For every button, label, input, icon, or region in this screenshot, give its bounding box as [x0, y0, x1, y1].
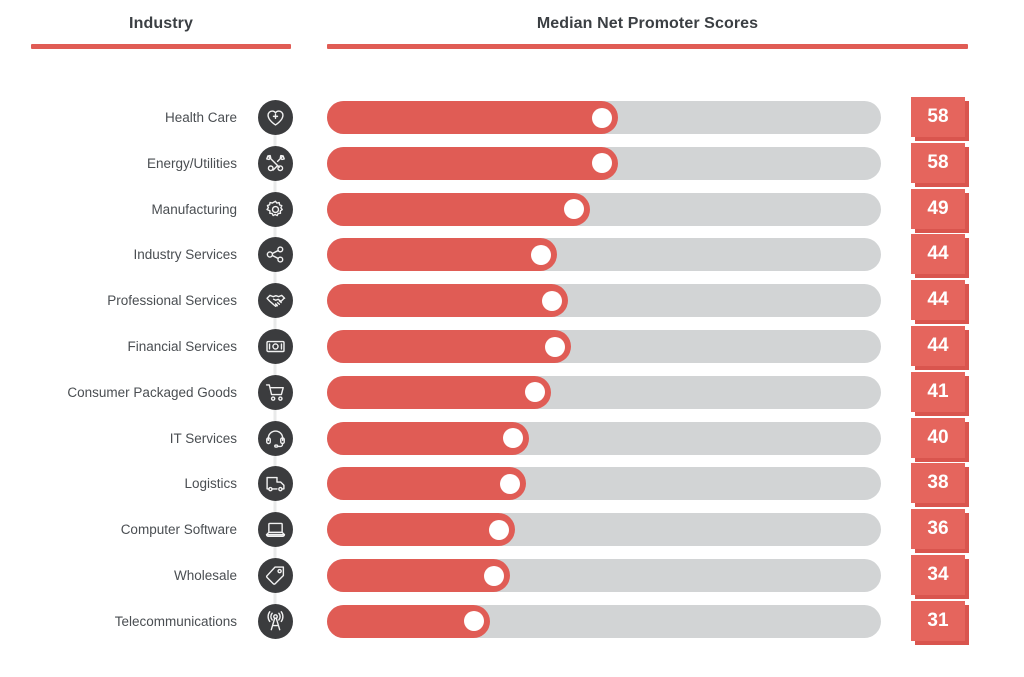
- score-fill: [327, 422, 529, 455]
- score-badge: 44: [911, 280, 965, 320]
- heart-plus-icon: [258, 100, 293, 135]
- score-badge: 34: [911, 555, 965, 595]
- score-fill: [327, 284, 568, 317]
- scores-title: Median Net Promoter Scores: [327, 0, 968, 34]
- industry-title: Industry: [31, 0, 291, 34]
- score-knob[interactable]: [525, 382, 545, 402]
- chart-row: Energy/Utilities58: [0, 141, 1024, 187]
- industry-label: Wholesale: [0, 553, 237, 599]
- score-knob[interactable]: [484, 566, 504, 586]
- score-badge: 38: [911, 463, 965, 503]
- score-knob[interactable]: [489, 520, 509, 540]
- score-fill: [327, 513, 515, 546]
- truck-icon: [258, 466, 293, 501]
- score-value: 31: [911, 601, 965, 641]
- chart-row: IT Services40: [0, 416, 1024, 462]
- score-knob[interactable]: [464, 611, 484, 631]
- score-track[interactable]: [327, 284, 881, 317]
- score-badge: 58: [911, 97, 965, 137]
- score-fill: [327, 376, 551, 409]
- chart-row: Health Care58: [0, 95, 1024, 141]
- score-value: 38: [911, 463, 965, 503]
- industry-label: IT Services: [0, 416, 237, 462]
- broadcast-tower-icon: [258, 604, 293, 639]
- price-tag-icon: [258, 558, 293, 593]
- industry-label: Energy/Utilities: [0, 141, 237, 187]
- score-fill: [327, 101, 618, 134]
- shopping-cart-icon: [258, 375, 293, 410]
- score-track[interactable]: [327, 193, 881, 226]
- score-track[interactable]: [327, 559, 881, 592]
- score-knob[interactable]: [503, 428, 523, 448]
- score-knob[interactable]: [592, 153, 612, 173]
- chart-row: Telecommunications31: [0, 599, 1024, 645]
- handshake-icon: [258, 283, 293, 318]
- score-fill: [327, 193, 590, 226]
- score-knob[interactable]: [564, 199, 584, 219]
- score-badge: 31: [911, 601, 965, 641]
- score-track[interactable]: [327, 376, 881, 409]
- laptop-icon: [258, 512, 293, 547]
- chart-row: Consumer Packaged Goods41: [0, 370, 1024, 416]
- score-track[interactable]: [327, 605, 881, 638]
- score-fill: [327, 330, 571, 363]
- industry-label: Health Care: [0, 95, 237, 141]
- score-track[interactable]: [327, 422, 881, 455]
- score-badge: 40: [911, 418, 965, 458]
- chart-row: Computer Software36: [0, 507, 1024, 553]
- score-knob[interactable]: [542, 291, 562, 311]
- banknote-icon: [258, 329, 293, 364]
- score-value: 44: [911, 280, 965, 320]
- score-value: 40: [911, 418, 965, 458]
- industry-column-header: Industry: [31, 0, 291, 49]
- industry-label: Consumer Packaged Goods: [0, 370, 237, 416]
- score-value: 44: [911, 234, 965, 274]
- score-badge: 36: [911, 509, 965, 549]
- industry-label: Telecommunications: [0, 599, 237, 645]
- chart-row: Logistics38: [0, 461, 1024, 507]
- score-value: 49: [911, 189, 965, 229]
- score-track[interactable]: [327, 101, 881, 134]
- chart-row: Manufacturing49: [0, 187, 1024, 233]
- tools-icon: [258, 146, 293, 181]
- score-fill: [327, 238, 557, 271]
- score-fill: [327, 559, 510, 592]
- industry-label: Industry Services: [0, 232, 237, 278]
- score-value: 58: [911, 143, 965, 183]
- score-knob[interactable]: [500, 474, 520, 494]
- chart-row: Financial Services44: [0, 324, 1024, 370]
- scores-column-header: Median Net Promoter Scores: [327, 0, 968, 49]
- chart-header: Industry Median Net Promoter Scores: [0, 0, 1024, 56]
- chart-row: Wholesale34: [0, 553, 1024, 599]
- score-badge: 58: [911, 143, 965, 183]
- score-track[interactable]: [327, 330, 881, 363]
- score-track[interactable]: [327, 238, 881, 271]
- gear-icon: [258, 192, 293, 227]
- score-value: 58: [911, 97, 965, 137]
- industry-label: Professional Services: [0, 278, 237, 324]
- score-fill: [327, 147, 618, 180]
- industry-label: Logistics: [0, 461, 237, 507]
- score-track[interactable]: [327, 467, 881, 500]
- score-badge: 44: [911, 326, 965, 366]
- share-network-icon: [258, 237, 293, 272]
- score-value: 41: [911, 372, 965, 412]
- score-track[interactable]: [327, 147, 881, 180]
- score-badge: 41: [911, 372, 965, 412]
- score-value: 44: [911, 326, 965, 366]
- chart-row: Industry Services44: [0, 232, 1024, 278]
- score-value: 36: [911, 509, 965, 549]
- industry-label: Computer Software: [0, 507, 237, 553]
- score-track[interactable]: [327, 513, 881, 546]
- industry-label: Manufacturing: [0, 187, 237, 233]
- scores-header-rule: [327, 44, 968, 49]
- score-badge: 44: [911, 234, 965, 274]
- score-badge: 49: [911, 189, 965, 229]
- score-knob[interactable]: [531, 245, 551, 265]
- score-knob[interactable]: [545, 337, 565, 357]
- headset-icon: [258, 421, 293, 456]
- score-fill: [327, 467, 526, 500]
- nps-chart: Health Care58Energy/Utilities58Manufactu…: [0, 95, 1024, 655]
- score-value: 34: [911, 555, 965, 595]
- score-knob[interactable]: [592, 108, 612, 128]
- industry-header-rule: [31, 44, 291, 49]
- industry-label: Financial Services: [0, 324, 237, 370]
- chart-row: Professional Services44: [0, 278, 1024, 324]
